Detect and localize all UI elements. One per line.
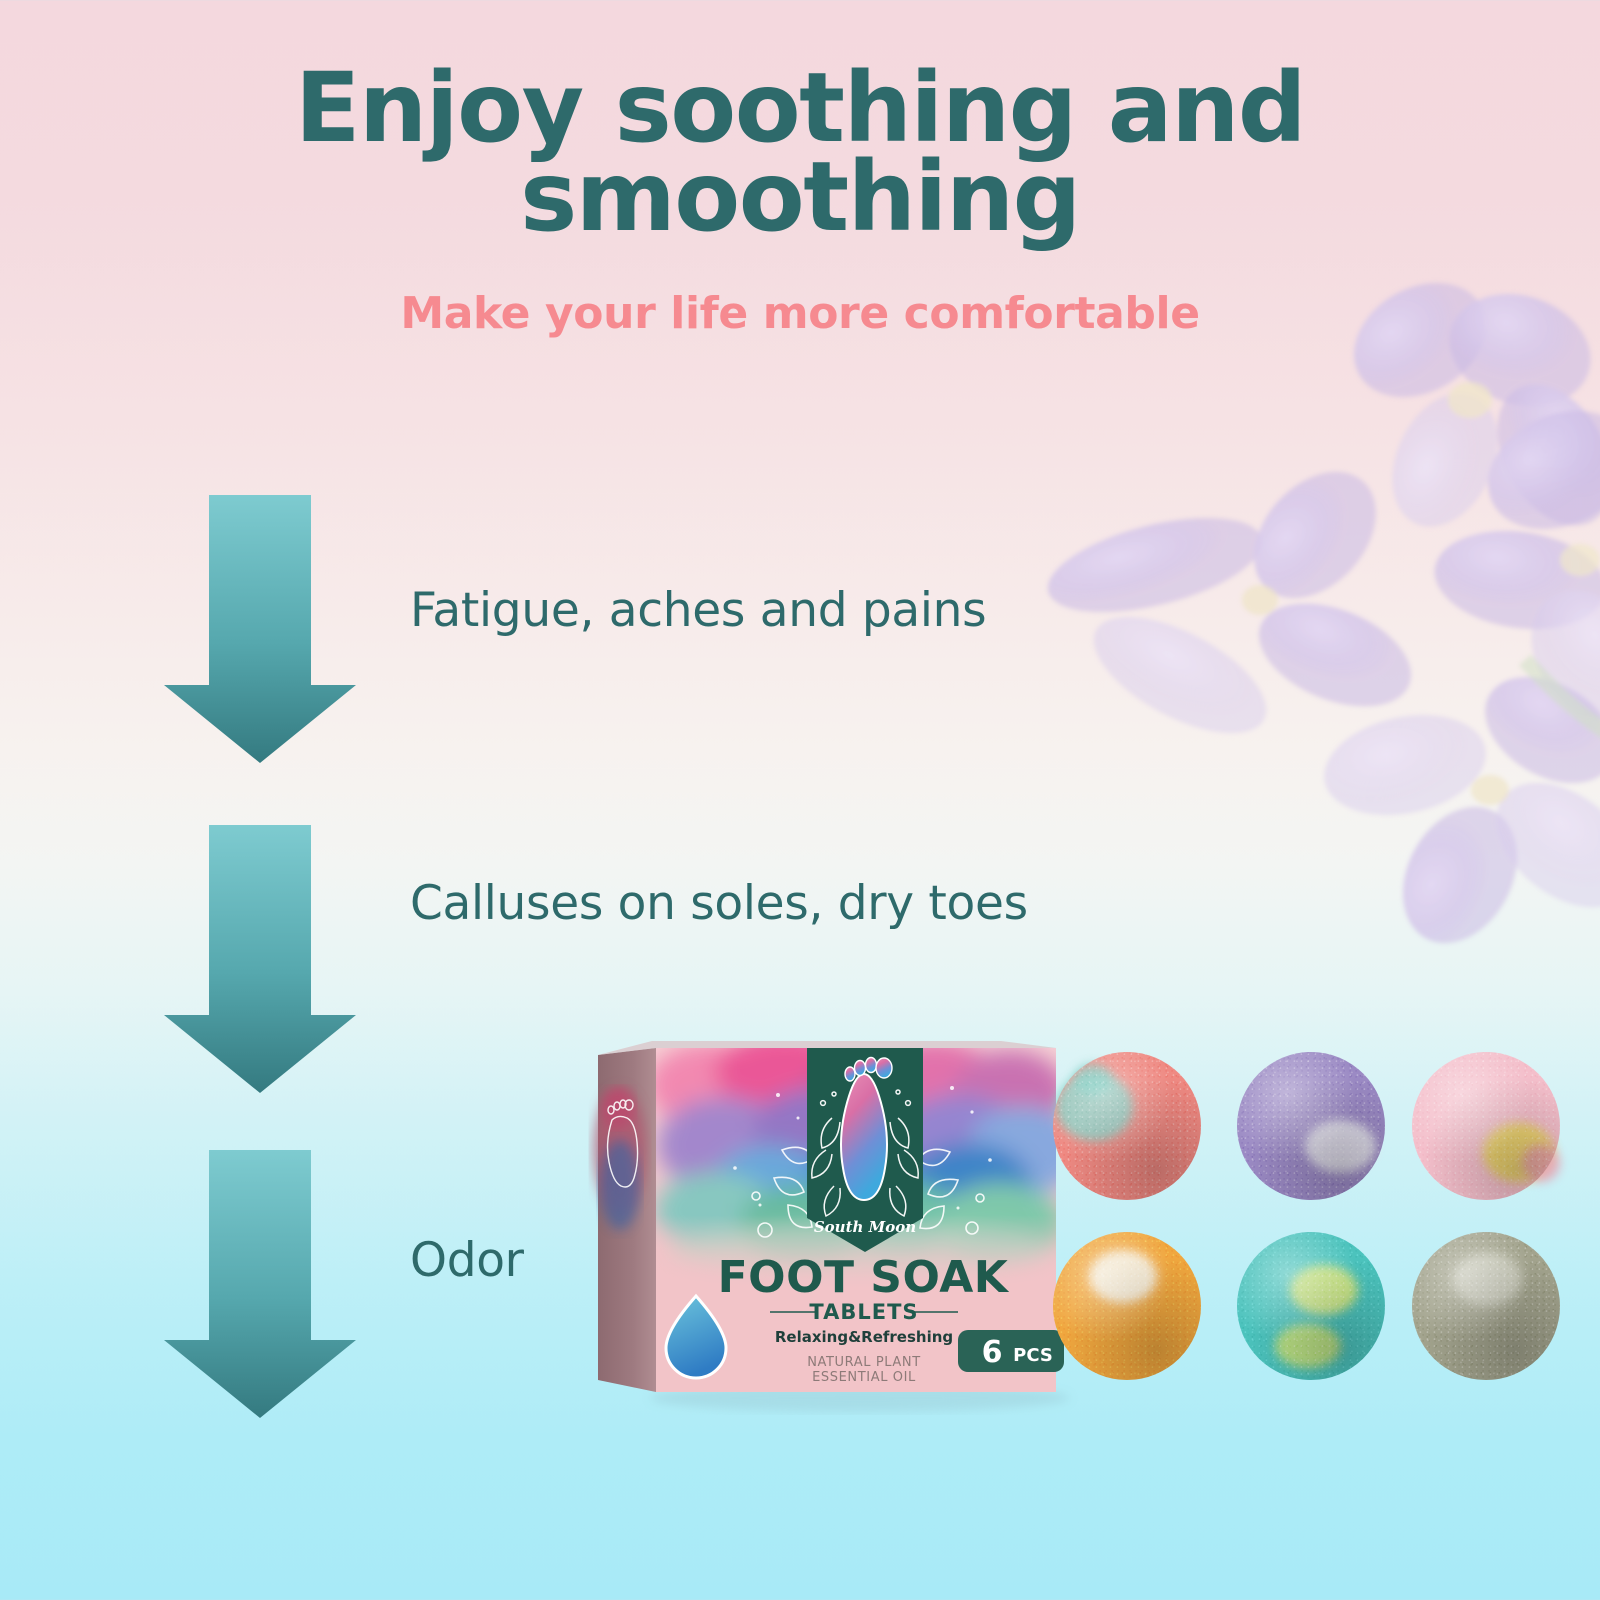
product-descriptor-line1: NATURAL PLANT bbox=[807, 1355, 921, 1370]
product-package: South Moon FOOT SOAK TABLETS Relaxing&Re… bbox=[560, 1000, 1100, 1420]
down-arrow-icon bbox=[164, 495, 356, 763]
page-subheadline: Make your life more comfortable bbox=[0, 288, 1600, 339]
benefit-label-1: Fatigue, aches and pains bbox=[410, 583, 986, 638]
flower-lower-right bbox=[1315, 655, 1600, 963]
lavender-flowers-decoration bbox=[1020, 230, 1600, 970]
product-subtitle: TABLETS bbox=[809, 1300, 918, 1324]
quantity-badge: 6 PCS bbox=[958, 1330, 1064, 1372]
benefit-label-3: Odor bbox=[410, 1233, 524, 1288]
orange-white-bomb bbox=[1053, 1232, 1201, 1380]
brand-name: South Moon bbox=[814, 1218, 916, 1236]
purple-white-bomb bbox=[1237, 1052, 1385, 1200]
product-descriptor-line2: ESSENTIAL OIL bbox=[812, 1370, 916, 1385]
down-arrow-icon bbox=[164, 1150, 356, 1418]
teal-yellow-bomb bbox=[1237, 1232, 1385, 1380]
brand-banner: South Moon bbox=[807, 1048, 923, 1252]
product-title: FOOT SOAK bbox=[718, 1252, 1010, 1303]
flower-middle-left bbox=[1039, 448, 1426, 757]
flower-stem bbox=[1525, 660, 1600, 762]
down-arrow-icon bbox=[164, 825, 356, 1093]
box-front-face: South Moon FOOT SOAK TABLETS Relaxing&Re… bbox=[648, 1032, 1083, 1392]
page-headline: Enjoy soothing and smoothing bbox=[0, 64, 1600, 243]
badge-unit: PCS bbox=[1013, 1345, 1053, 1366]
gray-olive-bomb bbox=[1412, 1232, 1560, 1380]
product-tagline: Relaxing&Refreshing bbox=[775, 1328, 953, 1346]
benefit-label-2: Calluses on soles, dry toes bbox=[410, 876, 1028, 931]
badge-count: 6 bbox=[982, 1335, 1003, 1370]
box-side-panel bbox=[594, 1048, 656, 1392]
pink-yellow-bomb bbox=[1412, 1052, 1560, 1200]
salmon-teal-bomb bbox=[1053, 1052, 1201, 1200]
flower-right-edge bbox=[1428, 388, 1600, 742]
